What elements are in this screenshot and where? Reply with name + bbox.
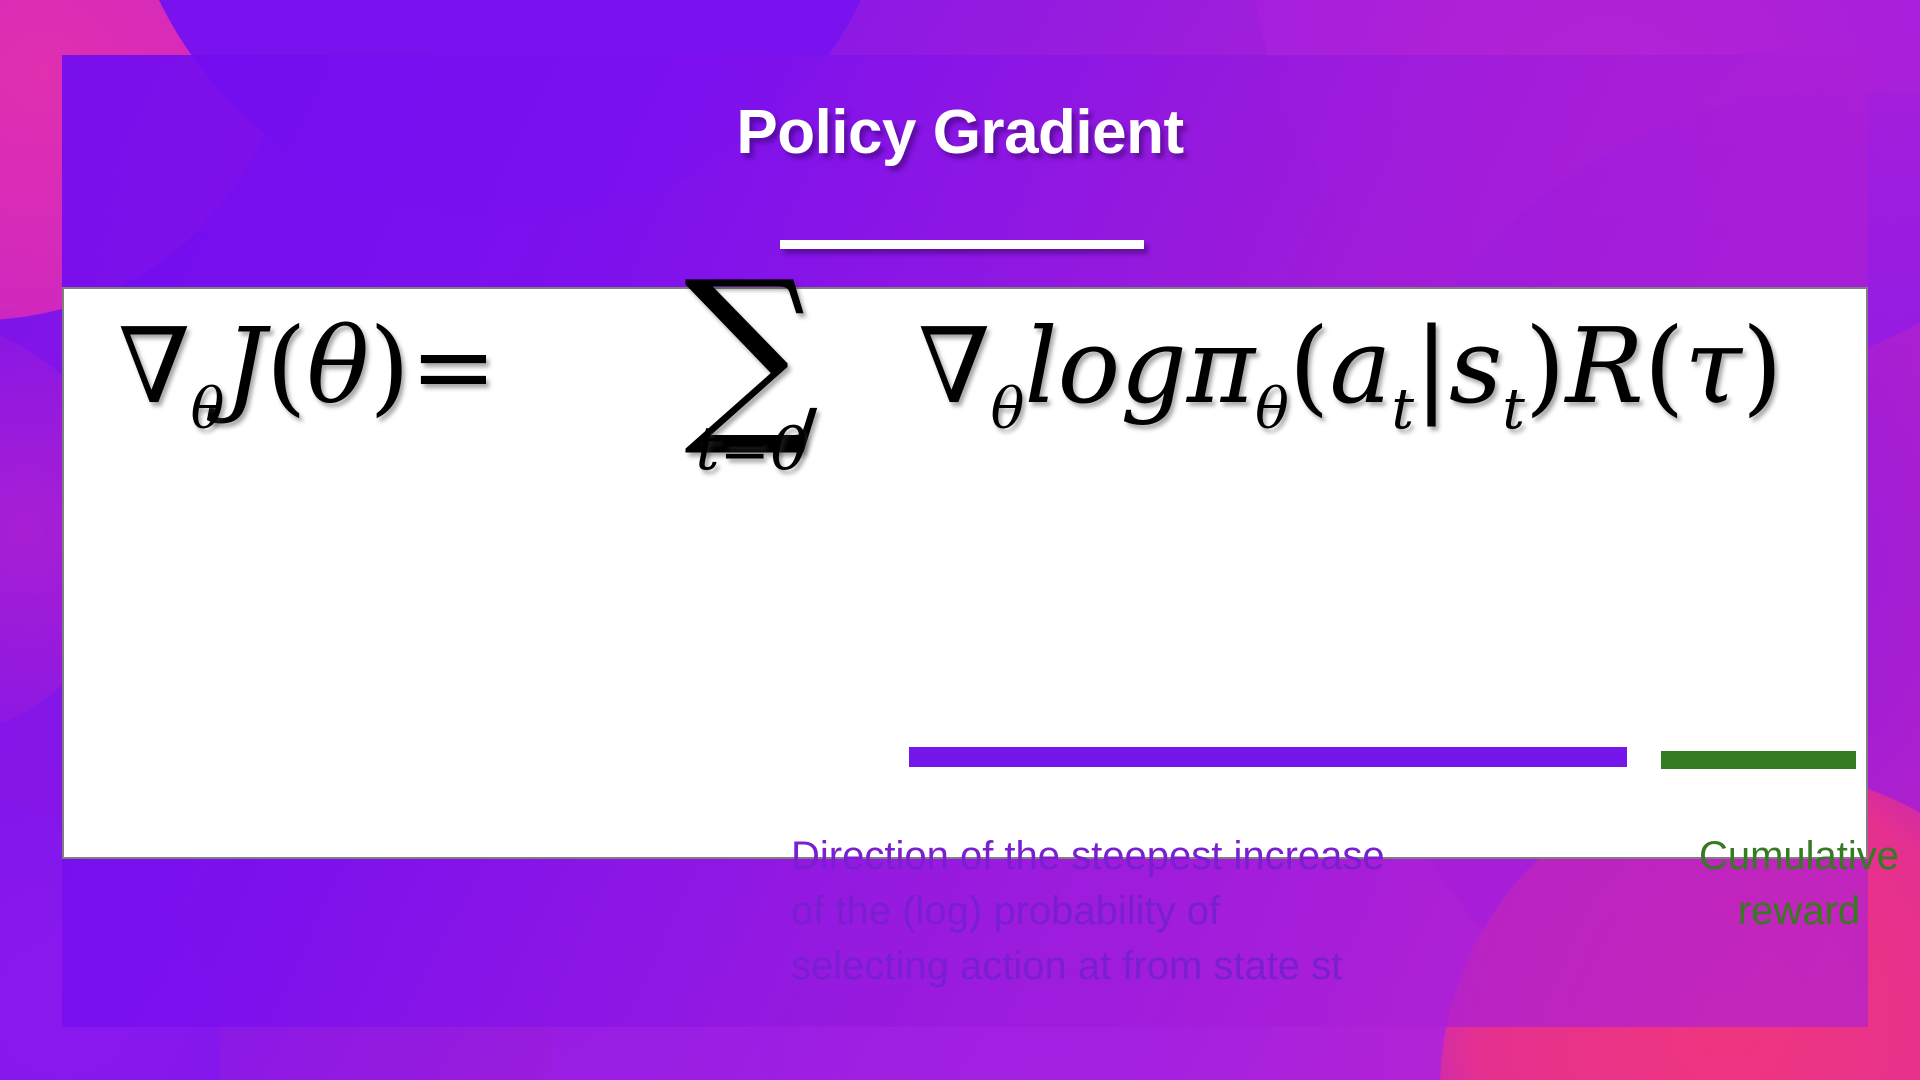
math-rhs-token-4: θ: [1255, 377, 1289, 442]
math-rhs-token-5: (: [1289, 305, 1330, 427]
math-rhs-token-1: θ: [991, 377, 1025, 442]
summation-lower-limit: t=0: [684, 414, 820, 484]
math-rhs-token-10: t: [1502, 377, 1525, 442]
purple-caption-line-2: selecting action at from state st: [791, 939, 1631, 994]
math-rhs-token-2: log: [1024, 305, 1186, 427]
math-lhs-token-5: ): [369, 305, 410, 427]
green-underline-rule: [1661, 751, 1856, 769]
math-rhs-token-15: ): [1742, 305, 1783, 427]
purple-underline-rule: [909, 747, 1627, 767]
purple-annotation-caption: Direction of the steepest increaseof the…: [791, 829, 1631, 995]
green-caption-line-0: Cumulative: [1634, 829, 1920, 884]
presentation-slide: Policy Gradient ∇θJ(θ)= ∑ t=0 ∇θlogπθ(at…: [0, 0, 1920, 1080]
sigma-icon: ∑: [684, 269, 820, 432]
green-annotation-caption: Cumulativereward: [1634, 829, 1920, 939]
summation-group: ∑ t=0: [684, 269, 820, 484]
page-title: Policy Gradient: [736, 100, 1183, 165]
math-lhs-token-6: =: [410, 305, 497, 427]
math-rhs-token-3: π: [1187, 305, 1255, 427]
math-lhs-token-1: θ: [191, 377, 225, 442]
purple-caption-line-1: of the (log) probability of: [791, 884, 1631, 939]
math-rhs-token-11: ): [1525, 305, 1566, 427]
math-lhs-token-0: ∇: [118, 305, 191, 427]
math-lhs-token-2: J: [224, 305, 266, 427]
formula-left-hand-side: ∇θJ(θ)=: [118, 305, 497, 427]
math-lhs-token-4: θ: [307, 305, 370, 427]
math-rhs-token-0: ∇: [918, 305, 991, 427]
math-rhs-token-13: (: [1644, 305, 1685, 427]
title-underline-rule: [780, 240, 1144, 249]
green-caption-line-1: reward: [1634, 884, 1920, 939]
purple-caption-line-0: Direction of the steepest increase: [791, 829, 1631, 884]
math-rhs-token-9: s: [1449, 305, 1502, 427]
math-rhs-token-14: τ: [1684, 305, 1742, 427]
formula-card: ∇θJ(θ)= ∑ t=0 ∇θlogπθ(at|st)R(τ) Directi…: [62, 287, 1868, 859]
math-rhs-token-12: R: [1566, 305, 1644, 427]
math-rhs-token-7: t: [1391, 377, 1414, 442]
math-lhs-token-3: (: [266, 305, 307, 427]
policy-gradient-formula: ∇θJ(θ)= ∑ t=0 ∇θlogπθ(at|st)R(τ): [88, 295, 1878, 535]
math-rhs-token-6: a: [1329, 305, 1391, 427]
math-rhs-token-8: |: [1414, 305, 1449, 427]
title-block: Policy Gradient: [0, 100, 1920, 165]
formula-right-hand-side: ∇θlogπθ(at|st)R(τ): [918, 305, 1783, 427]
